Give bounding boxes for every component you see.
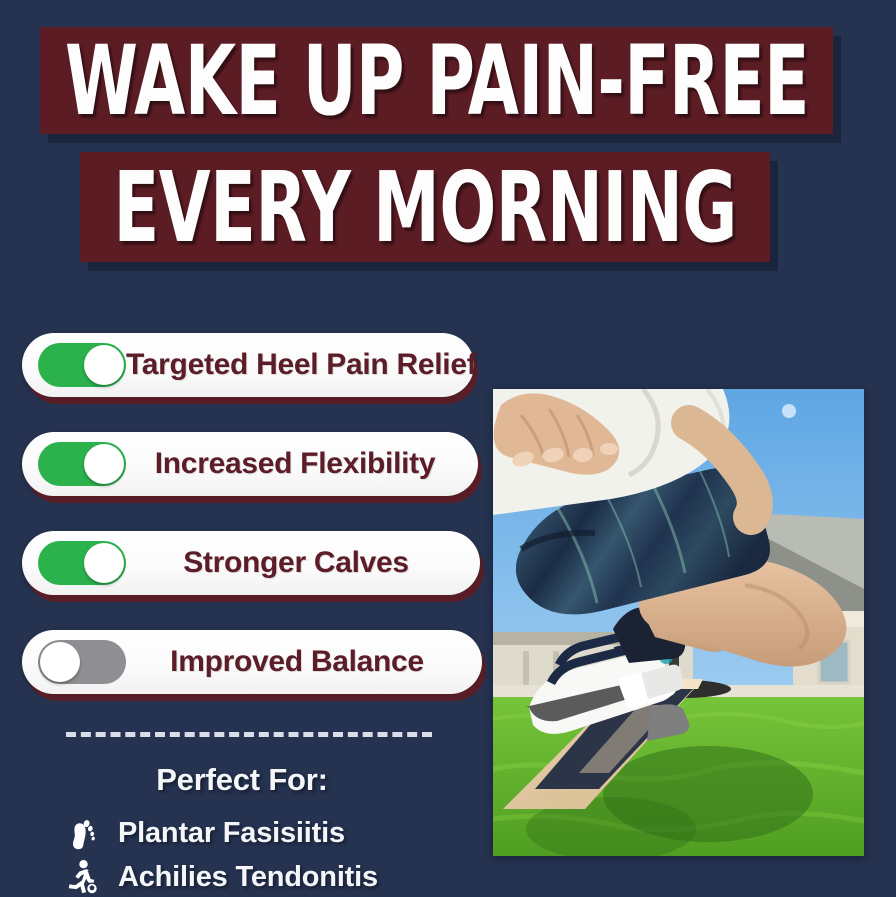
toggle-targeted-heel-pain-relief[interactable] xyxy=(38,343,126,387)
benefit-row-improved-balance[interactable]: Improved Balance xyxy=(22,630,482,694)
toggle-improved-balance[interactable] xyxy=(38,640,126,684)
headline-banner-line1: WAKE UP PAIN-FREE xyxy=(40,27,833,134)
toggle-stronger-calves[interactable] xyxy=(38,541,126,585)
benefit-label: Stronger Calves xyxy=(126,546,480,580)
running-person-icon xyxy=(58,859,106,895)
list-item-label: Achilies Tendonitis xyxy=(118,861,378,894)
toggle-knob xyxy=(84,444,124,484)
benefit-row-stronger-calves[interactable]: Stronger Calves xyxy=(22,531,480,595)
list-item-achilies-tendonitis: Achilies Tendonitis xyxy=(58,856,488,897)
toggle-increased-flexibility[interactable] xyxy=(38,442,126,486)
toggle-knob xyxy=(84,543,124,583)
benefit-label: Targeted Heel Pain Relief xyxy=(126,348,490,382)
headline-banner-line2: EVERY MORNING xyxy=(80,152,770,262)
perfect-for-list: Plantar Fasisiitis Achilies Tendonitis xyxy=(58,812,488,897)
headline-line2-text: EVERY MORNING xyxy=(113,152,736,262)
dashed-divider xyxy=(66,732,432,737)
ad-creative: WAKE UP PAIN-FREE EVERY MORNING Targeted… xyxy=(0,0,896,897)
benefit-label: Increased Flexibility xyxy=(126,447,478,481)
toggle-knob xyxy=(84,345,124,385)
footprint-icon xyxy=(58,815,106,851)
product-photo xyxy=(493,389,864,856)
toggle-knob xyxy=(40,642,80,682)
headline-line1-text: WAKE UP PAIN-FREE xyxy=(65,27,809,134)
benefit-label: Improved Balance xyxy=(126,645,482,679)
list-item-plantar-fasisiitis: Plantar Fasisiitis xyxy=(58,812,488,854)
perfect-for-title: Perfect For: xyxy=(22,762,462,798)
benefit-row-increased-flexibility[interactable]: Increased Flexibility xyxy=(22,432,478,496)
benefit-row-targeted-heel-pain-relief[interactable]: Targeted Heel Pain Relief xyxy=(22,333,474,397)
benefits-list: Targeted Heel Pain Relief Increased Flex… xyxy=(22,333,482,729)
list-item-label: Plantar Fasisiitis xyxy=(118,817,345,850)
